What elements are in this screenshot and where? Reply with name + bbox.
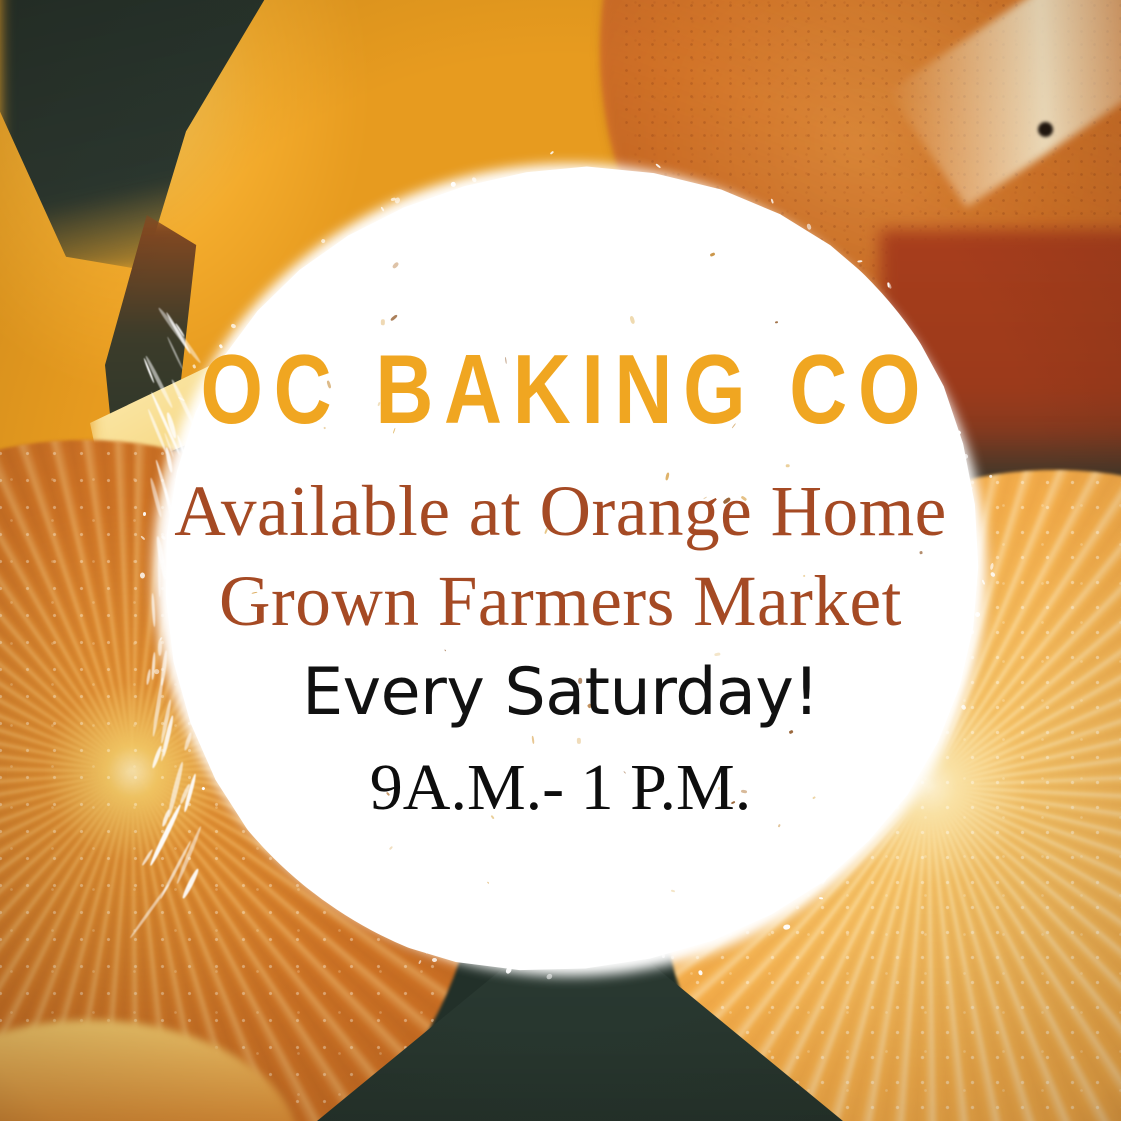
- headline-line-2: Grown Farmers Market: [6, 560, 1116, 643]
- frequency-text: Every Saturday!: [0, 655, 1121, 730]
- orange-bakery-flyer: OC BAKING CO Available at Orange Home Gr…: [0, 0, 1121, 1121]
- headline-line-1: Available at Orange Home: [6, 470, 1116, 553]
- brand-title: OC BAKING CO: [101, 340, 1020, 438]
- hours-text: 9A.M.- 1 P.M.: [0, 750, 1121, 826]
